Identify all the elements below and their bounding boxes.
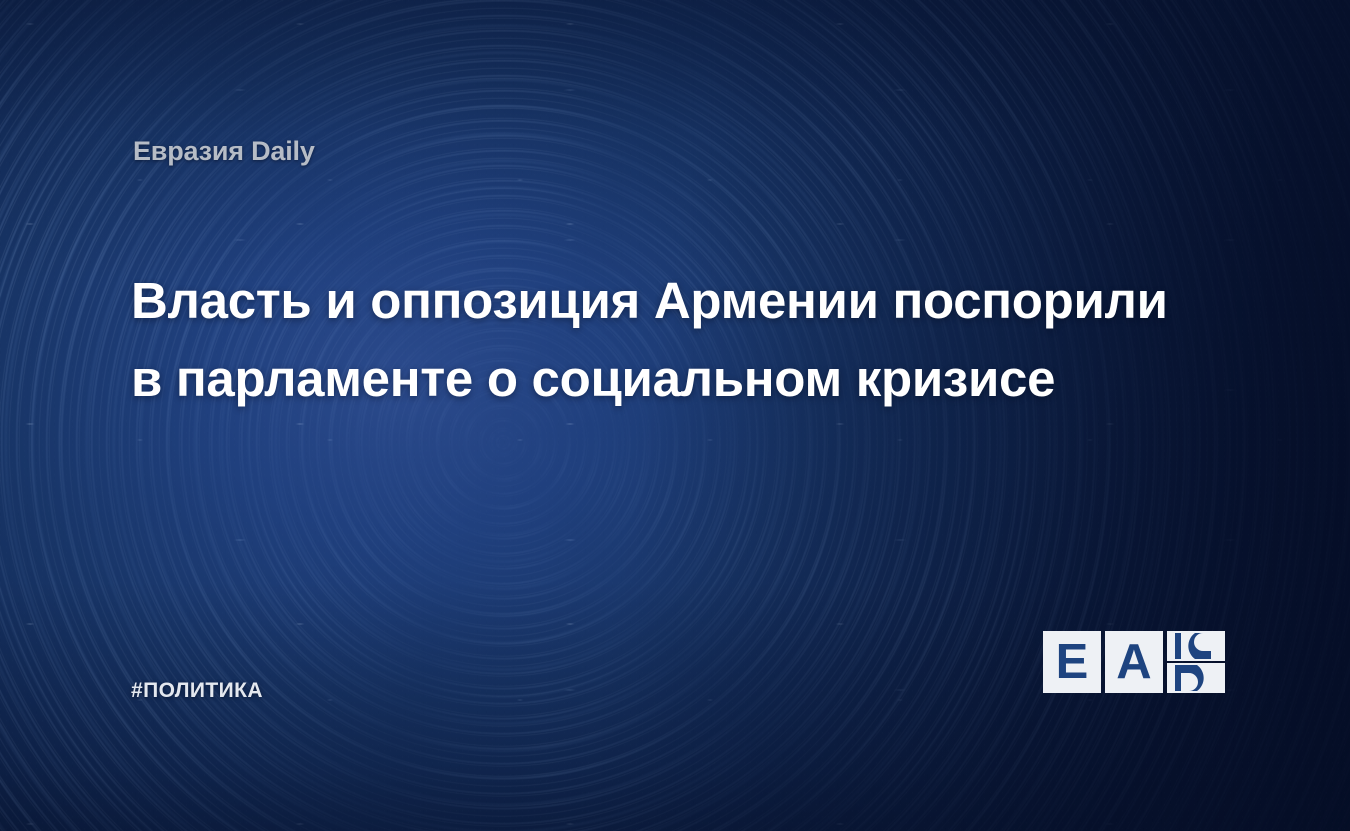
logo-letter-e: E [1056, 638, 1089, 687]
brand-wordmark: Евразия Daily [133, 136, 315, 167]
headline: Власть и оппозиция Армении поспорили в п… [131, 262, 1241, 418]
card-content: Евразия Daily Власть и оппозиция Армении… [0, 0, 1350, 831]
logo-d-upper-glyph [1167, 631, 1225, 661]
logo-d-lower-glyph [1167, 663, 1225, 693]
logo-tile-d [1167, 631, 1225, 693]
news-share-card: Евразия Daily Власть и оппозиция Армении… [0, 0, 1350, 831]
category-tag: #ПОЛИТИКА [131, 679, 263, 703]
headline-line-1: Власть и оппозиция Армении поспорили [131, 262, 1241, 340]
ead-logo: E A [1043, 631, 1225, 693]
headline-line-2: в парламенте о социальном кризисе [131, 340, 1241, 418]
logo-tile-d-lower [1167, 663, 1225, 693]
logo-tile-d-upper [1167, 631, 1225, 661]
logo-letter-a: A [1116, 638, 1151, 687]
logo-tile-a: A [1105, 631, 1163, 693]
logo-tile-e: E [1043, 631, 1101, 693]
